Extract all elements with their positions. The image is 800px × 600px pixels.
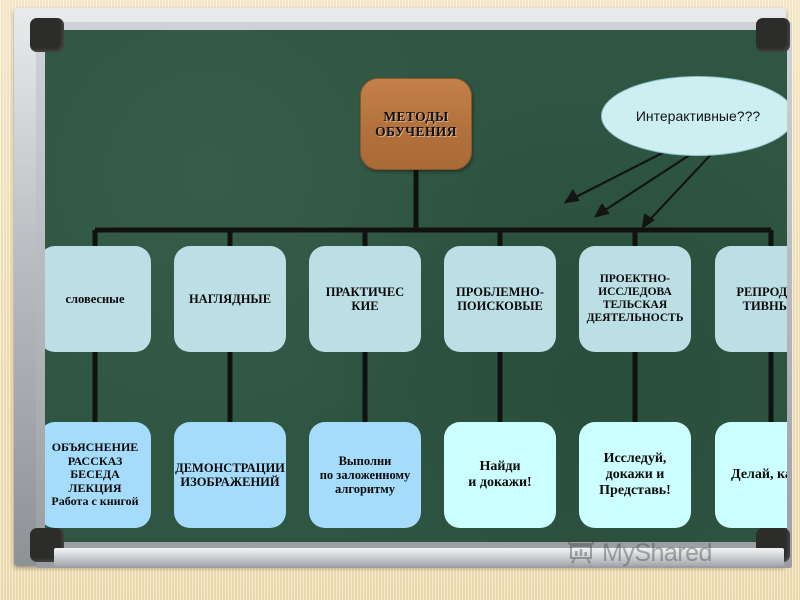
node-root-label: МЕТОДЫОБУЧЕНИЯ <box>375 109 457 139</box>
node-category-1[interactable]: словесные <box>45 246 151 352</box>
node-leaf-2-label: ДЕМОНСТРАЦИИИЗОБРАЖЕНИЙ <box>175 461 285 489</box>
node-leaf-5[interactable]: Исследуй,докажи иПредставь! <box>579 422 691 528</box>
node-leaf-3-label: Выполнипо заложенномуалгоритму <box>320 454 411 496</box>
node-leaf-2[interactable]: ДЕМОНСТРАЦИИИЗОБРАЖЕНИЙ <box>174 422 286 528</box>
node-category-5-label: ПРОЕКТНО-ИССЛЕДОВАТЕЛЬСКАЯДЕЯТЕЛЬНОСТЬ <box>587 273 684 325</box>
node-leaf-3[interactable]: Выполнипо заложенномуалгоритму <box>309 422 421 528</box>
node-category-2[interactable]: НАГЛЯДНЫЕ <box>174 246 286 352</box>
watermark-text: MyShared <box>602 539 712 568</box>
node-leaf-6[interactable]: Делай, как я <box>715 422 787 528</box>
node-leaf-1-label: ОБЪЯСНЕНИЕРАССКАЗБЕСЕДАЛЕКЦИЯРабота с кн… <box>51 441 138 508</box>
node-leaf-1[interactable]: ОБЪЯСНЕНИЕРАССКАЗБЕСЕДАЛЕКЦИЯРабота с кн… <box>45 422 151 528</box>
node-root[interactable]: МЕТОДЫОБУЧЕНИЯ <box>360 78 472 170</box>
node-category-4[interactable]: ПРОБЛЕМНО-ПОИСКОВЫЕ <box>444 246 556 352</box>
node-category-3[interactable]: ПРАКТИЧЕСКИЕ <box>309 246 421 352</box>
bubble-interactive[interactable]: Интерактивные??? <box>601 76 787 156</box>
screenshot-stage: МЕТОДЫОБУЧЕНИЯ Интерактивные??? словесны… <box>0 0 800 600</box>
watermark: MyShared <box>566 536 712 571</box>
presentation-board-icon <box>566 536 596 571</box>
node-category-2-label: НАГЛЯДНЫЕ <box>189 292 271 306</box>
node-category-5[interactable]: ПРОЕКТНО-ИССЛЕДОВАТЕЛЬСКАЯДЕЯТЕЛЬНОСТЬ <box>579 246 691 352</box>
chalkboard-surface: МЕТОДЫОБУЧЕНИЯ Интерактивные??? словесны… <box>45 30 787 542</box>
whiteboard-frame: МЕТОДЫОБУЧЕНИЯ Интерактивные??? словесны… <box>14 8 786 566</box>
node-category-4-label: ПРОБЛЕМНО-ПОИСКОВЫЕ <box>456 285 544 313</box>
node-leaf-6-label: Делай, как я <box>731 467 787 483</box>
node-leaf-5-label: Исследуй,докажи иПредставь! <box>599 451 671 498</box>
node-category-3-label: ПРАКТИЧЕСКИЕ <box>326 285 404 313</box>
node-leaf-4[interactable]: Найдии докажи! <box>444 422 556 528</box>
node-category-1-label: словесные <box>65 292 124 306</box>
node-category-6[interactable]: РЕПРОДУКТИВНЫЕ <box>715 246 787 352</box>
node-category-6-label: РЕПРОДУКТИВНЫЕ <box>736 285 787 313</box>
node-leaf-4-label: Найдии докажи! <box>468 459 531 490</box>
bubble-label: Интерактивные??? <box>636 108 760 124</box>
